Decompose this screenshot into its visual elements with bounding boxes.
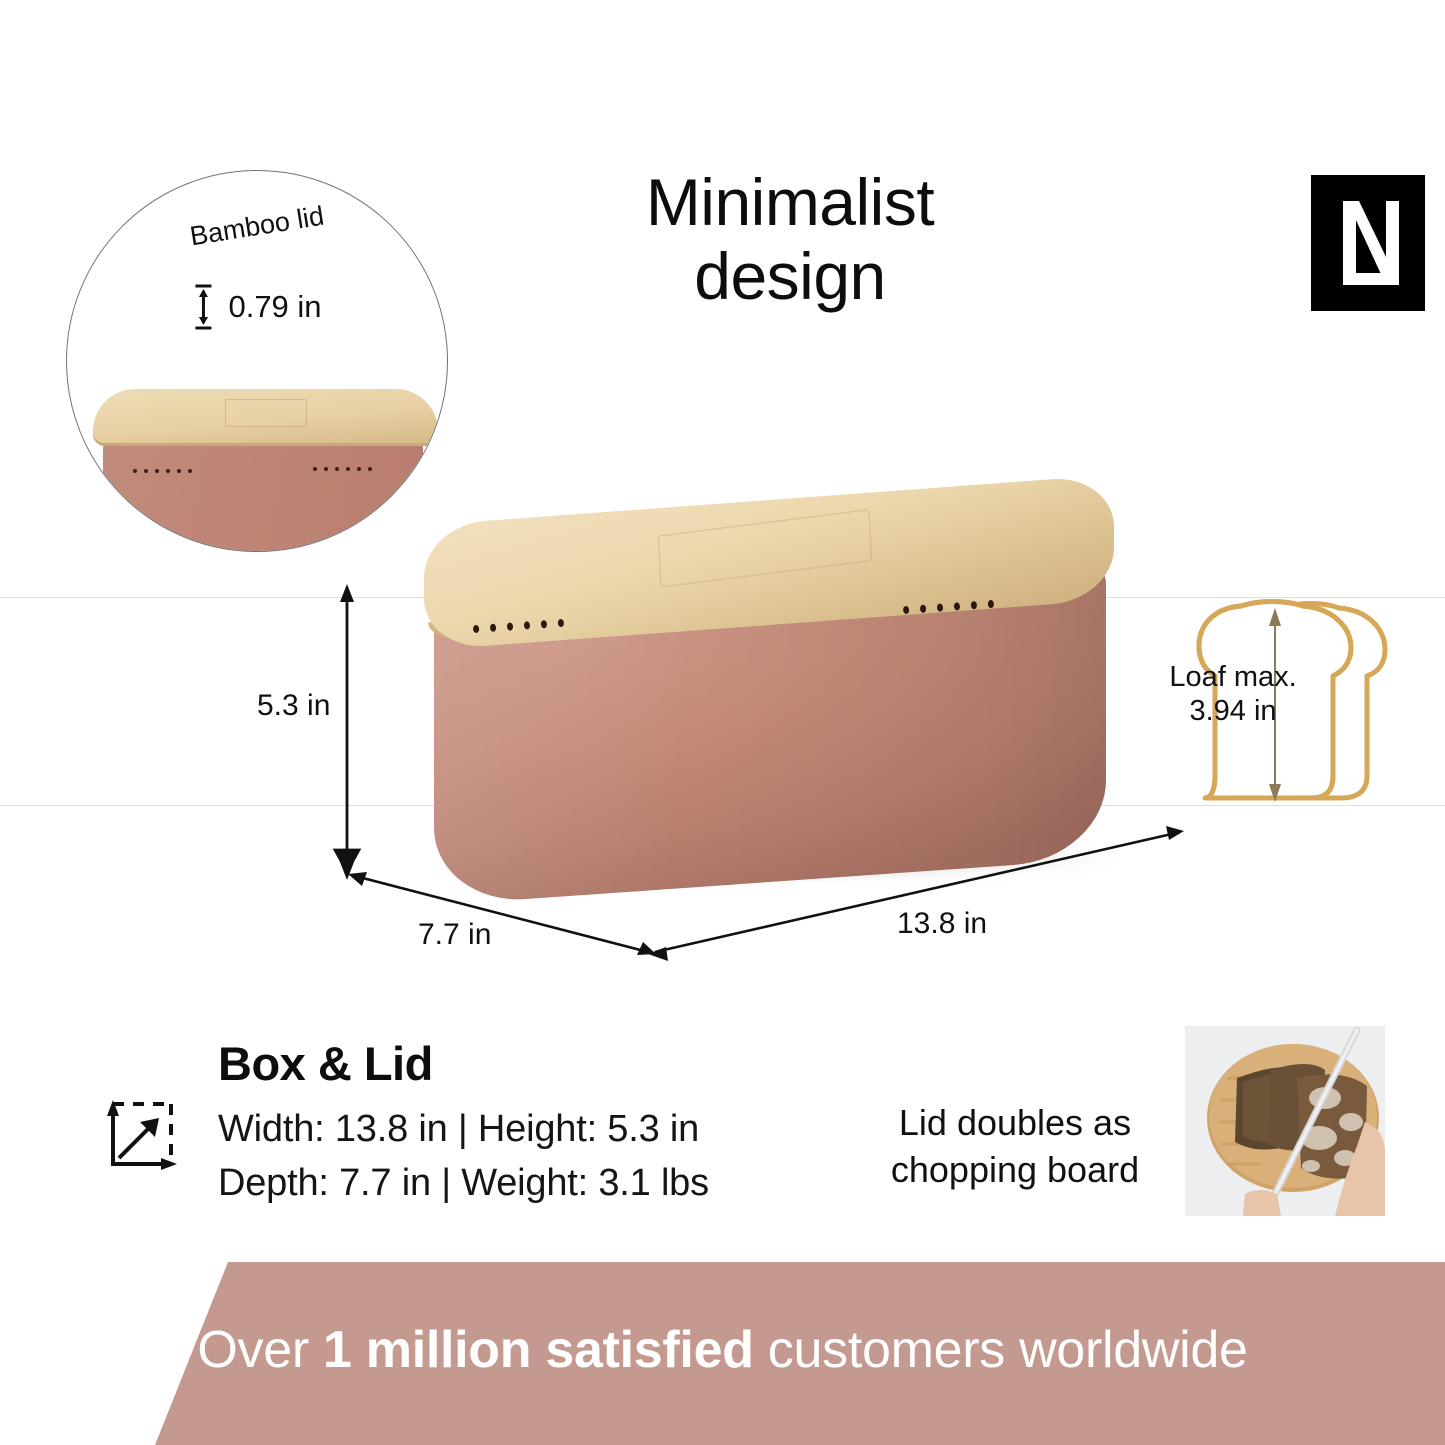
callout-label: Bamboo lid	[188, 201, 326, 253]
dimension-label-depth: 7.7 in	[418, 918, 491, 952]
feature-line-2: chopping board	[880, 1147, 1150, 1194]
page-title: Minimalist design	[430, 166, 1150, 314]
callout-vent-holes-right	[313, 467, 372, 471]
feature-line-1: Lid doubles as	[880, 1100, 1150, 1147]
banner-suffix: customers worldwide	[754, 1321, 1248, 1379]
loaf-max-line-1: Loaf max.	[1153, 660, 1313, 694]
specs-line-1: Width: 13.8 in | Height: 5.3 in	[218, 1108, 699, 1151]
callout-product-image	[66, 383, 448, 552]
specs-line-2: Depth: 7.7 in | Weight: 3.1 lbs	[218, 1162, 709, 1205]
callout-bamboo-lid	[93, 389, 438, 443]
callout-vent-holes-left	[133, 469, 192, 473]
bread-cutting-photo-illustration	[1185, 1026, 1385, 1216]
callout-box-body	[103, 431, 423, 552]
dimension-label-width: 13.8 in	[897, 907, 987, 941]
brand-logo	[1311, 175, 1425, 311]
loaf-max-callout: Loaf max. 3.94 in	[1163, 598, 1403, 806]
title-line-2: design	[430, 240, 1150, 314]
banner-prefix: Over	[197, 1321, 323, 1379]
lid-thickness-value: 0.79 in	[228, 289, 321, 325]
chopping-board-feature: Lid doubles as chopping board	[880, 1100, 1150, 1194]
specs-title: Box & Lid	[218, 1036, 433, 1091]
vertical-dimension-arrow-icon	[192, 283, 214, 331]
resize-dimensions-icon	[105, 1100, 177, 1172]
bread-box-product-image	[416, 500, 1122, 890]
infographic-canvas: Minimalist design Bamboo lid 0.79 in	[0, 0, 1445, 1445]
title-line-1: Minimalist	[430, 166, 1150, 240]
logo-n-icon	[1311, 175, 1425, 311]
dimension-label-height: 5.3 in	[257, 689, 330, 723]
loaf-max-line-2: 3.94 in	[1153, 694, 1313, 728]
banner-highlight: 1 million satisfied	[323, 1321, 754, 1379]
chopping-board-photo	[1185, 1026, 1385, 1216]
lid-thickness-dimension: 0.79 in	[192, 283, 321, 331]
loaf-max-text: Loaf max. 3.94 in	[1153, 660, 1313, 728]
bamboo-lid-callout: Bamboo lid 0.79 in	[66, 170, 448, 552]
banner-text: Over 1 million satisfied customers world…	[0, 1320, 1445, 1380]
